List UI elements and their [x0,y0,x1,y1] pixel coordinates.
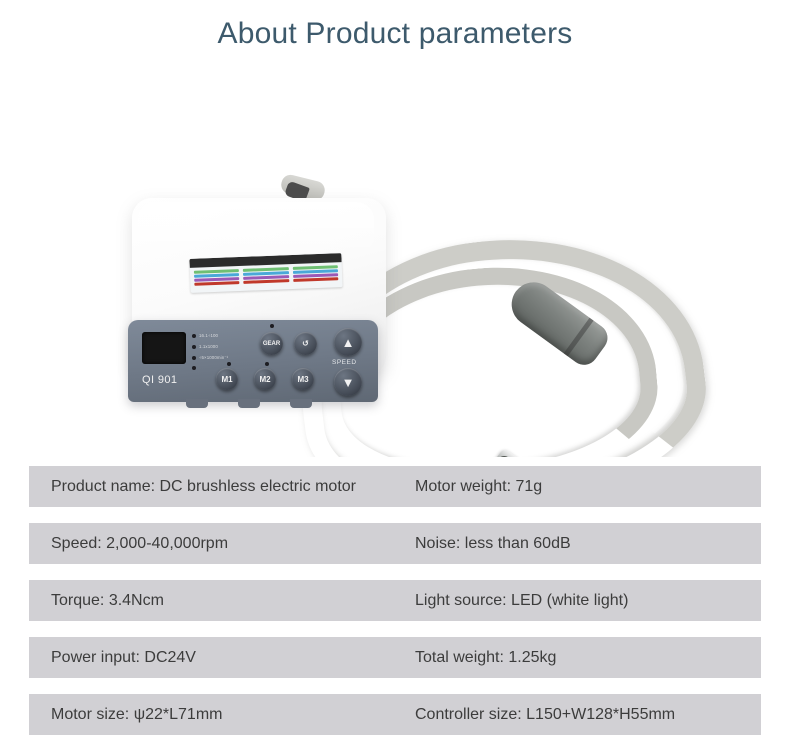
panel-foot [186,399,208,408]
brand-label: QI 901 [142,374,177,386]
spec-light-source: Light source: LED (white light) [401,580,761,621]
status-led-icon [265,362,269,366]
indicator-row: ÷5×1000min⁻¹ [192,352,258,363]
sticker-bar-red [293,277,338,281]
status-led-icon [227,362,231,366]
sticker-column [243,267,289,285]
reverse-button[interactable]: ↺ [294,332,317,355]
table-row: Motor size: ψ22*L71mm Controller size: L… [29,694,761,735]
panel-foot [238,399,260,408]
sticker-column [292,265,338,283]
indicator-led-icon [192,356,196,360]
spec-table: Product name: DC brushless electric moto… [29,466,761,751]
spec-torque: Torque: 3.4Ncm [29,580,401,621]
indicator-led-icon [192,334,196,338]
status-led-icon [192,366,196,370]
sticker-bar-red [244,279,289,283]
table-row: Speed: 2,000-40,000rpm Noise: less than … [29,523,761,564]
handpiece-ring [564,318,594,357]
speed-up-button[interactable]: ▲ [334,328,362,356]
spec-motor-weight: Motor weight: 71g [401,466,761,507]
indicator-label: 16.1÷100 [199,333,218,338]
product-image: QI 901 16.1÷100 1.1x1000 ÷5×1000min⁻¹ GE… [0,72,790,457]
control-panel: QI 901 16.1÷100 1.1x1000 ÷5×1000min⁻¹ GE… [128,320,378,402]
spec-power-input: Power input: DC24V [29,637,401,678]
memory-button-m3[interactable]: M3 [292,368,314,390]
spec-speed: Speed: 2,000-40,000rpm [29,523,401,564]
indicator-row: 16.1÷100 [192,330,258,341]
page-title: About Product parameters [0,12,790,56]
panel-foot [290,399,312,408]
indicator-label: ÷5×1000min⁻¹ [199,355,228,361]
indicator-list: 16.1÷100 1.1x1000 ÷5×1000min⁻¹ [192,330,258,363]
memory-button-m2[interactable]: M2 [254,368,276,390]
indicator-row: 1.1x1000 [192,341,258,352]
speed-down-button[interactable]: ▼ [334,368,362,396]
spec-controller-size: Controller size: L150+W128*H55mm [401,694,761,735]
spec-total-weight: Total weight: 1.25kg [401,637,761,678]
product-label-sticker [189,253,342,293]
body-highlight [138,202,374,254]
memory-button-m1[interactable]: M1 [216,368,238,390]
table-row: Power input: DC24V Total weight: 1.25kg [29,637,761,678]
table-row: Torque: 3.4Ncm Light source: LED (white … [29,580,761,621]
indicator-led-icon [192,345,196,349]
spec-noise: Noise: less than 60dB [401,523,761,564]
spec-product-name: Product name: DC brushless electric moto… [29,466,401,507]
lcd-display [142,332,186,364]
status-led-icon [270,324,274,328]
sticker-columns [190,262,343,290]
gear-button[interactable]: GEAR [260,332,283,355]
indicator-label: 1.1x1000 [199,344,218,349]
speed-label: SPEED [332,359,357,366]
sticker-column [194,269,240,287]
sticker-bar-red [194,281,239,285]
table-row: Product name: DC brushless electric moto… [29,466,761,507]
spec-motor-size: Motor size: ψ22*L71mm [29,694,401,735]
